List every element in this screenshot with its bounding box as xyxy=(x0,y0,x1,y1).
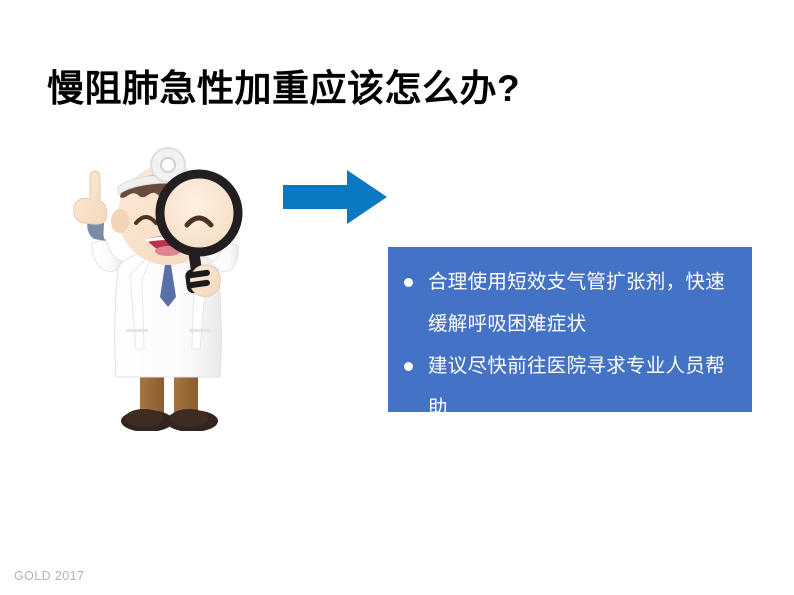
callout-box: 合理使用短效支气管扩张剂，快速缓解呼吸困难症状 建议尽快前往医院寻求专业人员帮助 xyxy=(388,247,752,412)
list-item-text: 建议尽快前往医院寻求专业人员帮助 xyxy=(428,355,725,412)
right-arrow-icon xyxy=(283,170,387,224)
callout-list: 合理使用短效支气管扩张剂，快速缓解呼吸困难症状 建议尽快前往医院寻求专业人员帮助 xyxy=(388,247,752,412)
page-title: 慢阻肺急性加重应该怎么办? xyxy=(47,68,520,111)
list-item-text: 合理使用短效支气管扩张剂，快速缓解呼吸困难症状 xyxy=(428,271,725,335)
list-item: 合理使用短效支气管扩张剂，快速缓解呼吸困难症状 xyxy=(404,261,736,345)
list-item: 建议尽快前往医院寻求专业人员帮助 xyxy=(404,345,736,412)
arm-left xyxy=(92,239,122,272)
pointing-hand xyxy=(74,171,107,224)
bullet-icon xyxy=(404,278,413,287)
footer-source-label: GOLD 2017 xyxy=(14,569,84,583)
doctor-with-magnifier-illustration xyxy=(58,139,274,431)
slide-canvas: 慢阻肺急性加重应该怎么办? xyxy=(0,0,794,595)
bullet-icon xyxy=(404,362,413,371)
